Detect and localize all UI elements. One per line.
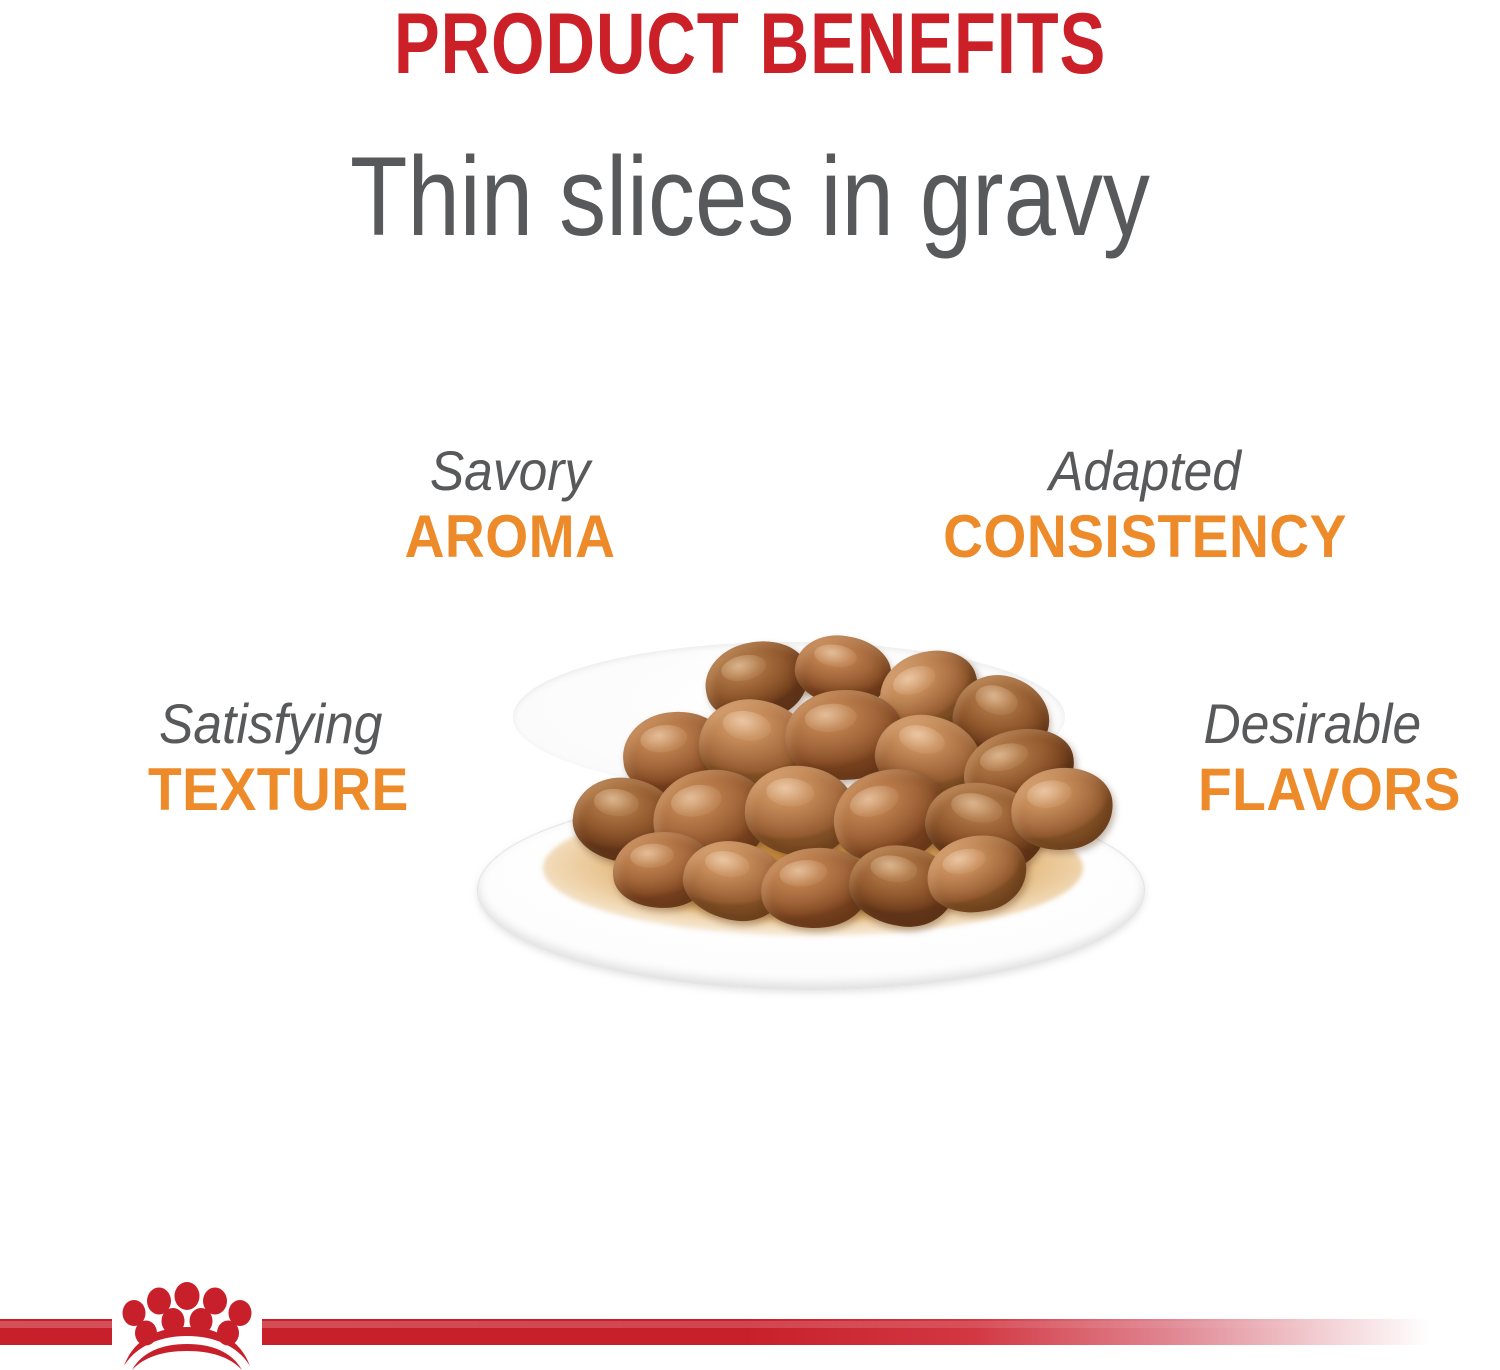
royal-canin-crown-logo: [112, 1282, 262, 1370]
benefit-flavors-label: FLAVORS: [1198, 755, 1500, 825]
page-subtitle: Thin slices in gravy: [120, 133, 1380, 261]
benefit-consistency-label: CONSISTENCY: [906, 502, 1384, 572]
benefit-aroma-label: AROMA: [317, 502, 703, 572]
product-food-image: [455, 620, 1165, 1000]
benefit-aroma-lead: Savory: [317, 440, 703, 502]
benefit-flavors-lead: Desirable: [1198, 693, 1500, 755]
page-title: PRODUCT BENEFITS: [150, 0, 1350, 92]
product-benefits-panel: PRODUCT BENEFITS Thin slices in gravy Sa…: [0, 0, 1500, 1370]
benefit-flavors: Desirable FLAVORS: [1198, 693, 1500, 825]
benefit-consistency: Adapted CONSISTENCY: [885, 440, 1405, 572]
benefit-consistency-lead: Adapted: [906, 440, 1384, 502]
crown-icon: [112, 1282, 262, 1370]
benefit-aroma: Savory AROMA: [300, 440, 720, 572]
